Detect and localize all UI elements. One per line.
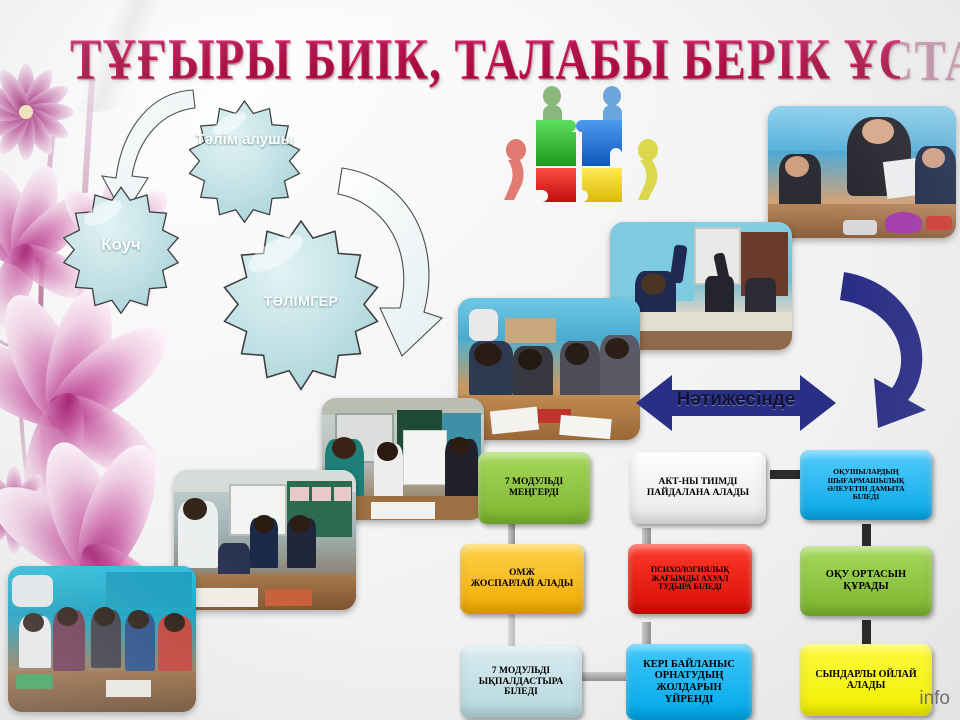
gear-mentor[interactable]: ТӘЛІМГЕР [216,216,386,386]
box-psychological-climate[interactable]: ПСИХОЛОГИЯЛЫҚ ЖАҒЫМДЫ АХУАЛ ТУДЫРА БІЛЕД… [628,544,752,614]
box-critical-line1: СЫНДАРЛЫ ОЙЛАЙ [815,669,916,680]
box-psych-line3: ТУДЫРА БІЛЕДІ [651,583,729,592]
box-critical-thinking[interactable]: СЫНДАРЛЫ ОЙЛАЙ АЛАДЫ [800,644,932,716]
photo-group-discussion-top-right [768,106,956,238]
photo-seminar-audience [8,566,196,712]
puzzle-teamwork-clipart [492,84,668,209]
gear-coach[interactable]: Коуч [56,182,186,312]
box-feedback-line1: КЕРІ БАЙЛАНЫС [643,659,735,671]
photo-lesson-whiteboard [174,470,356,610]
connector-ict-to-creative [770,470,800,479]
box-modules-mastered-line2: МЕҢГЕРДІ [505,488,563,499]
box-creative-line4: БІЛЕДІ [827,493,904,501]
box-modules-mastered[interactable]: 7 МОДУЛЬДІ МЕҢГЕРДІ [478,452,590,524]
box-env-line1: ОҚУ ОРТАСЫН [826,569,906,581]
box-modules-integrate[interactable]: 7 МОДУЛЬДІ ЫҚПАЛДАСТЫРА БІЛЕДІ [460,646,582,718]
box-ict-effective-use[interactable]: АКТ-НЫ ТИІМДІ ПАЙДАЛАНА АЛАДЫ [630,452,766,524]
box-integrate-line3: БІЛЕДІ [479,687,563,698]
box-feedback-line3: ЖОЛДАРЫН [643,682,735,694]
result-banner: Нәтижесінде [636,372,836,434]
box-critical-line2: АЛАДЫ [815,680,916,691]
box-feedback-ways[interactable]: КЕРІ БАЙЛАНЫС ОРНАТУДЫҢ ЖОЛДАРЫН ҮЙРЕНДІ [626,644,752,720]
box-modules-mastered-line1: 7 МОДУЛЬДІ [505,477,563,488]
result-banner-label: Нәтижесінде [636,389,836,411]
watermark-label: info [919,688,950,710]
box-omzh-line1: ОМЖ [471,568,574,579]
box-develop-creative-potential[interactable]: ОҚУШЫЛАРДЫҢ ШЫҒАРМАШЫЛЫҚ ӘЛЕУЕТІН ДАМЫТА… [800,450,932,520]
box-env-line2: ҚҰРАДЫ [826,581,906,593]
box-integrate-line2: ЫҚПАЛДАСТЫРА [479,677,563,688]
box-learning-environment[interactable]: ОҚУ ОРТАСЫН ҚҰРАДЫ [800,546,932,616]
box-ict-line1: АКТ-НЫ ТИІМДІ [647,477,749,488]
photo-teachers-round-table [458,298,640,440]
box-omzh-line2: ЖОСПАРЛАЙ АЛАДЫ [471,579,574,590]
box-feedback-line4: ҮЙРЕНДІ [643,694,735,706]
slide-canvas: ТҰҒЫРЫ БИІК, ТАЛАБЫ БЕРІК ҰСТАЗ [0,0,960,720]
box-feedback-line2: ОРНАТУДЫҢ [643,670,735,682]
connector-integrate-to-feedback [580,672,626,681]
box-ict-line2: ПАЙДАЛАНА АЛАДЫ [647,488,749,499]
box-omzh-planning[interactable]: ОМЖ ЖОСПАРЛАЙ АЛАДЫ [460,544,584,614]
connector-psych-to-feedback [642,622,651,646]
gear-learner[interactable]: Тәлім алушы [182,96,307,221]
connector-modules-to-omzh [508,522,515,544]
box-integrate-line1: 7 МОДУЛЬДІ [479,666,563,677]
curved-navy-arrow [822,250,952,430]
